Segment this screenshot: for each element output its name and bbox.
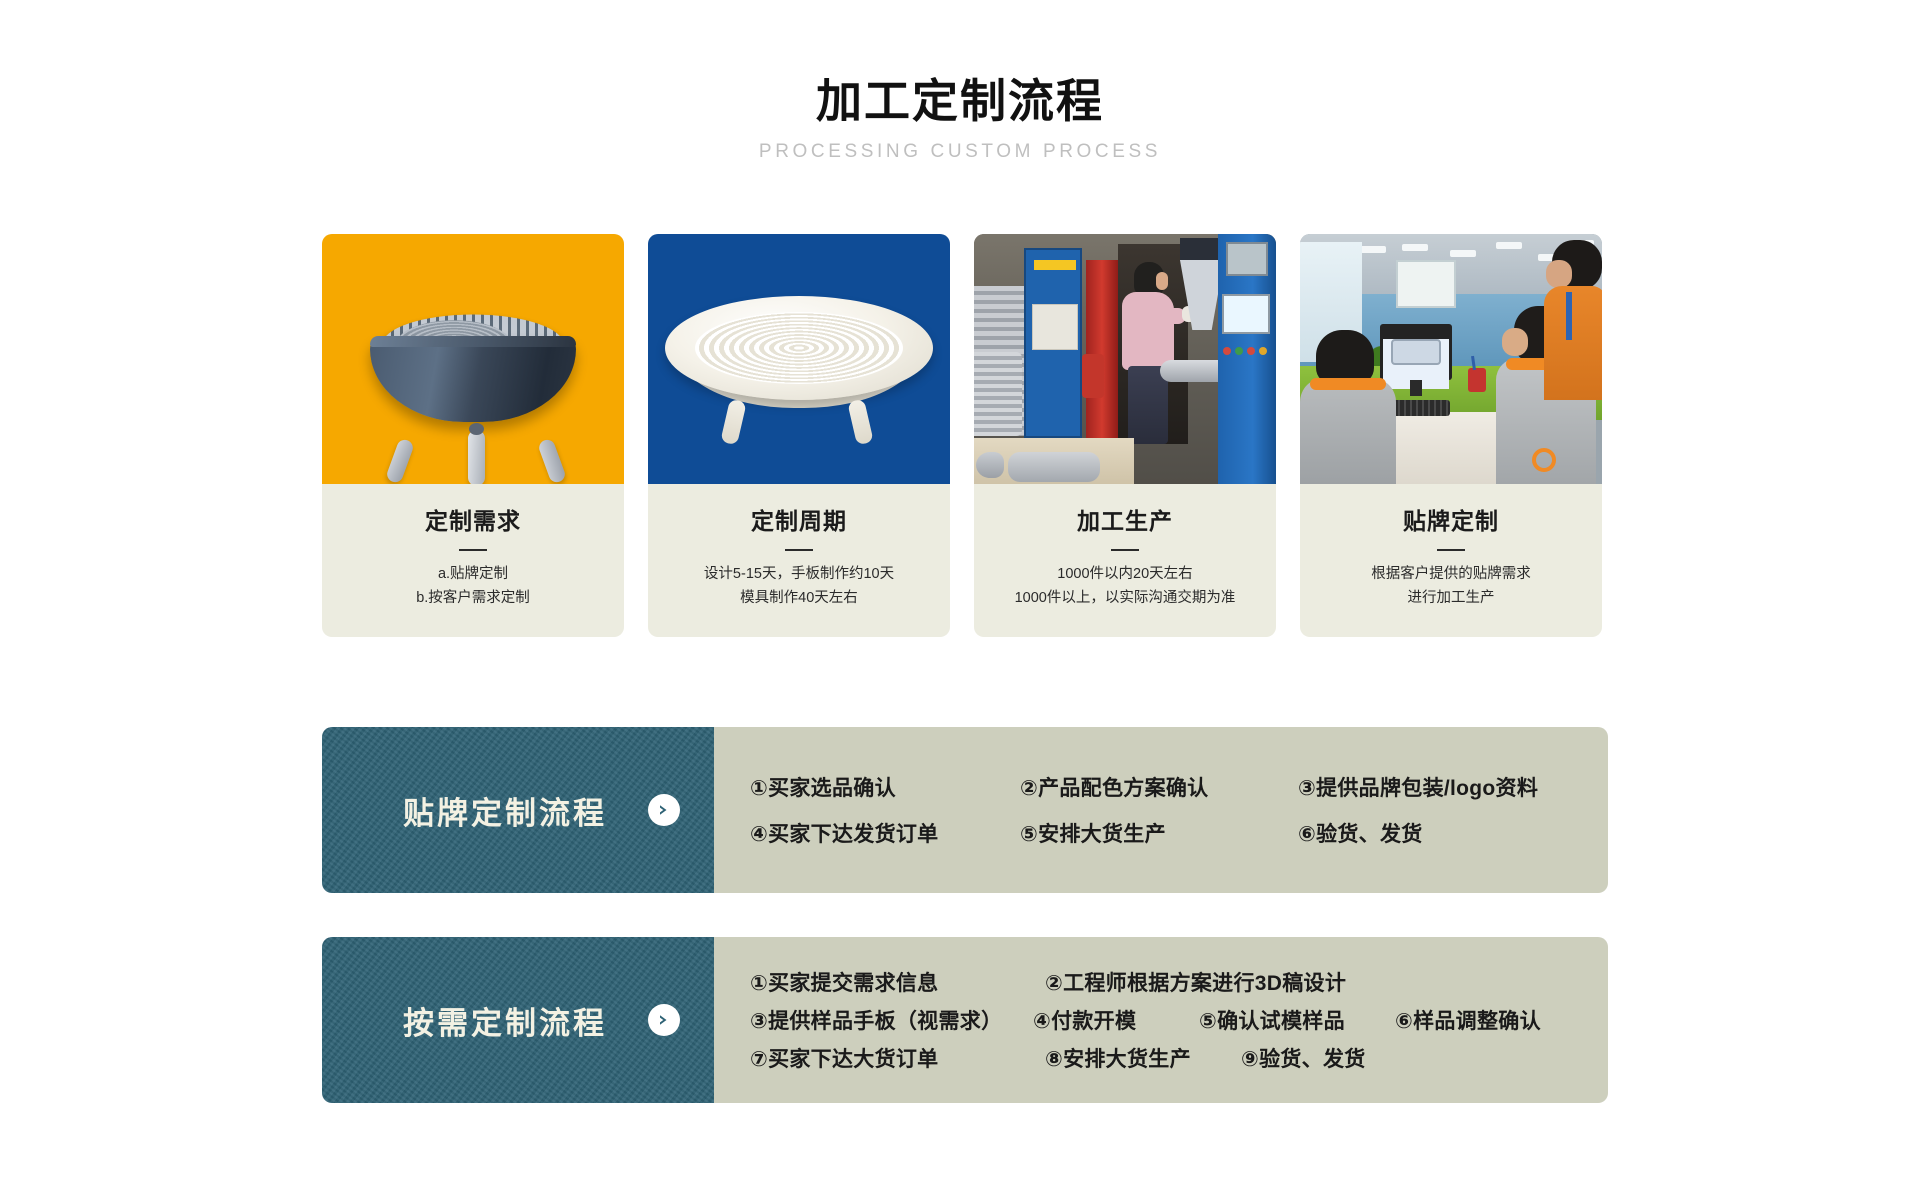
card-desc-line: 模具制作40天左右	[658, 587, 940, 611]
card-divider	[785, 549, 813, 551]
monitor-stand	[1410, 380, 1422, 396]
grill-leg-center	[468, 430, 485, 484]
chevron-right-icon[interactable]	[648, 794, 680, 826]
oem-process-banner: 贴牌定制流程 ①买家选品确认 ②产品配色方案确认 ③提供品牌包装/logo资料 …	[322, 727, 1608, 893]
office-engineers-cad-image	[1300, 234, 1602, 484]
step-item: ④买家下达发货订单	[750, 818, 1020, 848]
step-item: ⑦买家下达大货订单	[750, 1043, 1045, 1073]
card-desc-line: 进行加工生产	[1310, 587, 1592, 611]
prototype-leg-left	[720, 399, 746, 446]
oem-process-label-text: 贴牌定制流程	[403, 788, 607, 833]
page-title: 加工定制流程	[0, 76, 1920, 127]
step-item: ⑥样品调整确认	[1395, 1005, 1541, 1035]
oem-process-steps-panel: ①买家选品确认 ②产品配色方案确认 ③提供品牌包装/logo资料 ④买家下达发货…	[714, 727, 1608, 893]
card-desc-line: 根据客户提供的贴牌需求	[1310, 563, 1592, 587]
step-item: ⑧安排大货生产	[1045, 1043, 1241, 1073]
stacked-parts-pallet-2	[974, 352, 1022, 436]
card-body: 定制需求 a.贴牌定制 b.按客户需求定制	[322, 484, 624, 637]
red-machine-column	[1086, 260, 1118, 440]
machine-display-lower	[1222, 294, 1270, 334]
machine-button-row	[1223, 342, 1273, 354]
on-demand-process-label[interactable]: 按需定制流程	[322, 937, 714, 1103]
step-item: ④付款开模	[1033, 1005, 1199, 1035]
oem-process-label[interactable]: 贴牌定制流程	[322, 727, 714, 893]
molded-part-small	[976, 452, 1004, 478]
on-demand-process-label-text: 按需定制流程	[403, 998, 607, 1043]
blue-machine-cabinet	[1024, 248, 1082, 438]
engineer-standing	[1544, 240, 1602, 400]
card-divider	[1437, 549, 1465, 551]
prototype-leg-right	[847, 399, 873, 446]
prototype-spiral-lid-part	[665, 296, 933, 400]
molded-part-large	[1008, 452, 1100, 482]
card-desc-line: 设计5-15天，手板制作约10天	[658, 563, 940, 587]
step-item: ③提供品牌包装/logo资料	[1298, 772, 1538, 802]
process-card-custom-cycle[interactable]: 定制周期 设计5-15天，手板制作约10天 模具制作40天左右	[648, 234, 950, 637]
page-subtitle: PROCESSING CUSTOM PROCESS	[0, 141, 1920, 163]
company-watermark-logo	[1532, 446, 1596, 480]
card-title: 加工生产	[984, 502, 1266, 536]
wall-poster	[1396, 260, 1456, 308]
step-row: ③提供样品手板（视需求） ④付款开模 ⑤确认试模样品 ⑥样品调整确认	[750, 1005, 1582, 1035]
card-title: 贴牌定制	[1310, 502, 1592, 536]
step-item: ⑤确认试模样品	[1199, 1005, 1395, 1035]
step-item: ⑤安排大货生产	[1020, 818, 1298, 848]
card-divider	[1111, 549, 1139, 551]
exploded-grill-render-image	[322, 234, 624, 484]
card-title: 定制需求	[332, 502, 614, 536]
factory-injection-molding-image	[974, 234, 1276, 484]
engineer-left	[1300, 330, 1396, 484]
card-desc-line: a.贴牌定制	[332, 563, 614, 587]
process-card-custom-requirement[interactable]: 定制需求 a.贴牌定制 b.按客户需求定制	[322, 234, 624, 637]
card-body: 加工生产 1000件以内20天左右 1000件以上，以实际沟通交期为准	[974, 484, 1276, 637]
factory-worker	[1116, 262, 1178, 442]
card-desc-line: 1000件以上，以实际沟通交期为准	[984, 587, 1266, 611]
card-desc-line: 1000件以内20天左右	[984, 563, 1266, 587]
control-panel-cabinet	[1218, 234, 1276, 484]
page-header: 加工定制流程 PROCESSING CUSTOM PROCESS	[0, 0, 1920, 163]
process-card-production[interactable]: 加工生产 1000件以内20天左右 1000件以上，以实际沟通交期为准	[974, 234, 1276, 637]
step-row: ①买家选品确认 ②产品配色方案确认 ③提供品牌包装/logo资料	[750, 772, 1582, 802]
card-body: 定制周期 设计5-15天，手板制作约10天 模具制作40天左右	[648, 484, 950, 637]
grill-leg-right	[537, 438, 567, 484]
step-item: ①买家提交需求信息	[750, 967, 1045, 997]
pen-holder	[1468, 368, 1486, 392]
card-divider	[459, 549, 487, 551]
grill-bowl-part	[370, 336, 576, 422]
process-card-list: 定制需求 a.贴牌定制 b.按客户需求定制 定制周期 设计5-15天，手板	[322, 234, 1608, 637]
step-item: ②产品配色方案确认	[1020, 772, 1298, 802]
machine-display-upper	[1226, 242, 1268, 276]
step-row: ④买家下达发货订单 ⑤安排大货生产 ⑥验货、发货	[750, 818, 1582, 848]
step-row: ⑦买家下达大货订单 ⑧安排大货生产 ⑨验货、发货	[750, 1043, 1582, 1073]
on-demand-process-steps-panel: ①买家提交需求信息 ②工程师根据方案进行3D稿设计 ③提供样品手板（视需求） ④…	[714, 937, 1608, 1103]
grill-leg-left	[385, 438, 415, 484]
step-item: ②工程师根据方案进行3D稿设计	[1045, 967, 1346, 997]
white-prototype-image	[648, 234, 950, 484]
red-machine-block	[1082, 354, 1104, 398]
keyboard	[1388, 400, 1450, 416]
step-item: ⑥验货、发货	[1298, 818, 1423, 848]
on-demand-process-banner: 按需定制流程 ①买家提交需求信息 ②工程师根据方案进行3D稿设计 ③提供样品手板…	[322, 937, 1608, 1103]
step-item: ⑨验货、发货	[1241, 1043, 1366, 1073]
step-item: ③提供样品手板（视需求）	[750, 1005, 1033, 1035]
step-item: ①买家选品确认	[750, 772, 1020, 802]
card-desc-line: b.按客户需求定制	[332, 587, 614, 611]
chevron-right-icon[interactable]	[648, 1004, 680, 1036]
process-card-oem-custom[interactable]: 贴牌定制 根据客户提供的贴牌需求 进行加工生产	[1300, 234, 1602, 637]
card-body: 贴牌定制 根据客户提供的贴牌需求 进行加工生产	[1300, 484, 1602, 637]
card-title: 定制周期	[658, 502, 940, 536]
processing-custom-process-page: 加工定制流程 PROCESSING CUSTOM PROCESS 定制需求 a.…	[0, 0, 1920, 1200]
step-row: ①买家提交需求信息 ②工程师根据方案进行3D稿设计	[750, 967, 1582, 997]
